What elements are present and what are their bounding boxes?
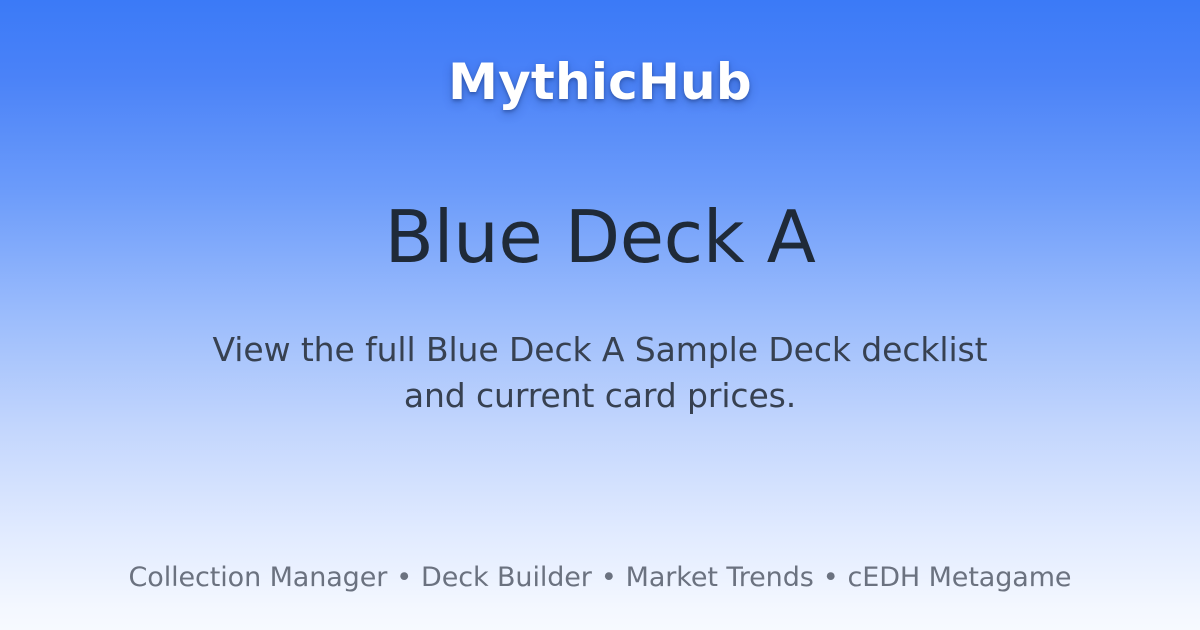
footer-feature-list: Collection Manager•Deck Builder•Market T… [129,562,1072,594]
hero-block: Blue Deck A View the full Blue Deck A Sa… [0,196,1200,420]
footer-link[interactable]: Deck Builder [421,562,592,594]
footer-separator: • [592,562,626,594]
brand-logo[interactable]: MythicHub [448,57,752,107]
brand-header: MythicHub [0,0,1200,164]
footer-link[interactable]: Collection Manager [129,562,388,594]
footer-link[interactable]: Market Trends [626,562,814,594]
page-subtitle: View the full Blue Deck A Sample Deck de… [200,327,1000,421]
page-title: Blue Deck A [385,196,816,280]
og-share-card: MythicHub Blue Deck A View the full Blue… [0,0,1200,630]
footer-bar: Collection Manager•Deck Builder•Market T… [0,562,1200,594]
footer-separator: • [387,562,421,594]
footer-link[interactable]: cEDH Metagame [848,562,1072,594]
footer-separator: • [814,562,848,594]
